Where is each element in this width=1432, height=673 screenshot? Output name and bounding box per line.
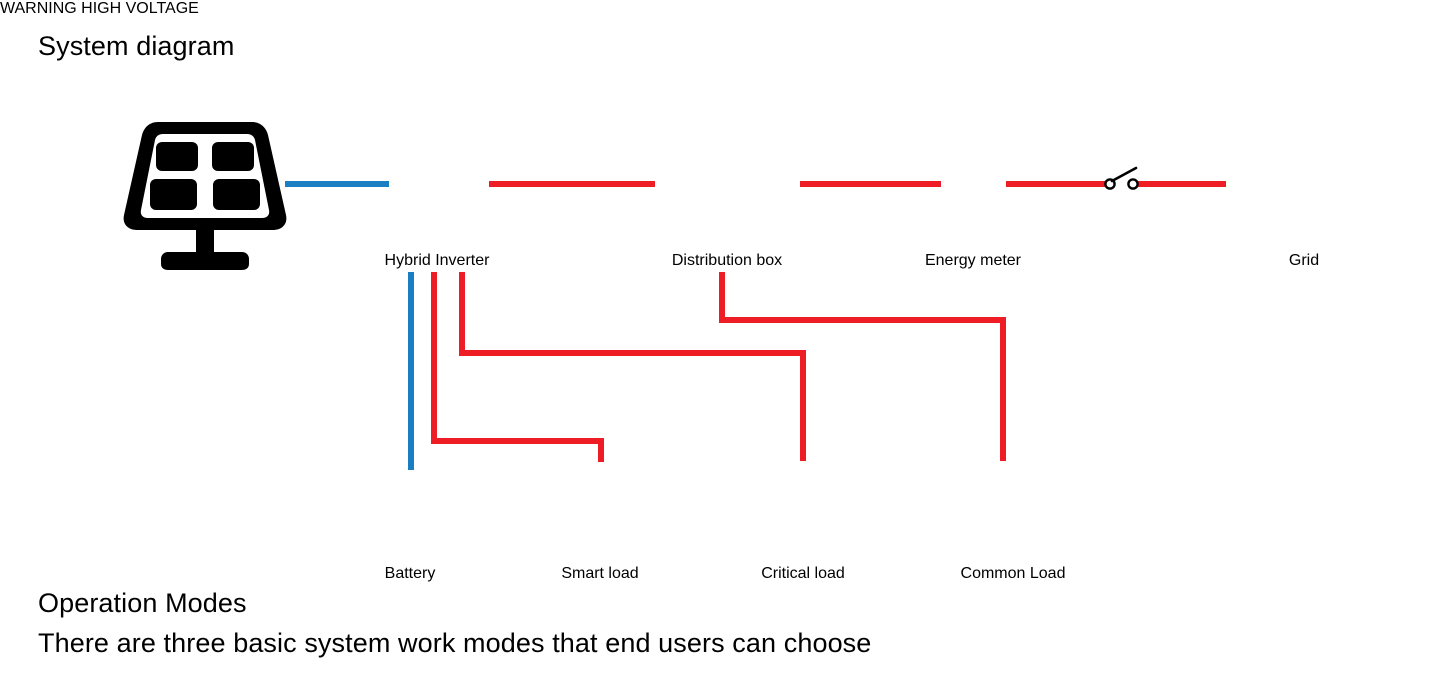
label-pv-module: PV module — [130, 251, 280, 271]
operation-modes-title: Operation Modes — [38, 586, 247, 620]
operation-modes-description: There are three basic system work modes … — [38, 626, 871, 660]
label-smart-load: Smart load — [525, 564, 675, 584]
system-diagram-page: System diagram — [0, 0, 1432, 673]
icons-layer — [0, 0, 1432, 673]
label-grid: Grid — [1229, 251, 1379, 271]
label-critical-load: Critical load — [728, 564, 878, 584]
label-common-load: Common Load — [938, 564, 1088, 584]
label-energy-meter: Energy meter — [898, 251, 1048, 271]
label-hybrid-inverter: Hybrid Inverter — [362, 251, 512, 271]
solar-panel-icon — [124, 122, 287, 270]
label-battery: Battery — [335, 564, 485, 584]
label-distribution-box: Distribution box — [652, 251, 802, 271]
